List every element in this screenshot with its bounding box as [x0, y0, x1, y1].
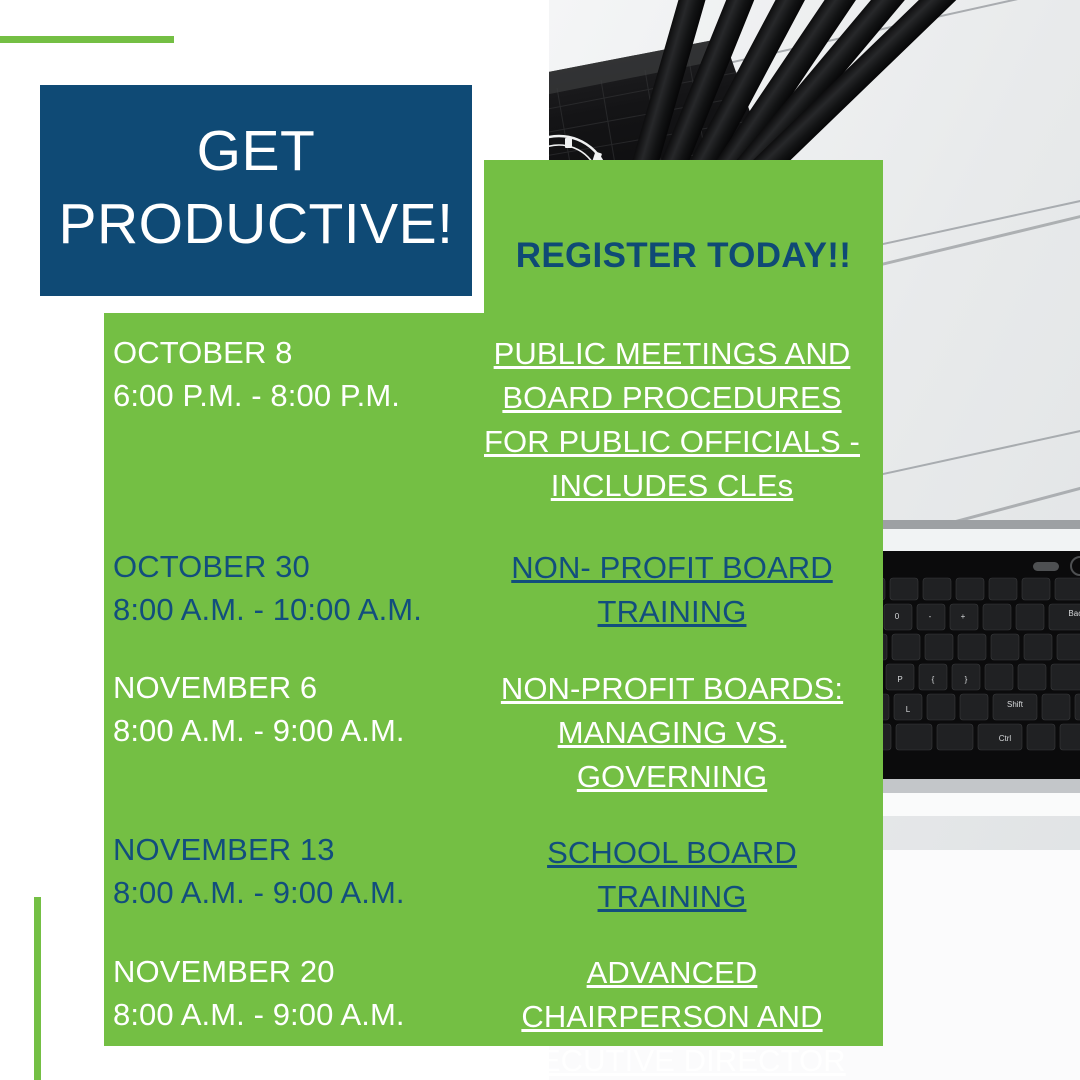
- schedule-date: OCTOBER 30: [113, 546, 470, 589]
- svg-text:Ctrl: Ctrl: [999, 734, 1012, 743]
- schedule-date: NOVEMBER 13: [113, 829, 470, 872]
- schedule-time: 8:00 A.M. - 10:00 A.M.: [113, 589, 470, 632]
- schedule-date: OCTOBER 8: [113, 332, 470, 375]
- event-link[interactable]: NON-PROFIT BOARDS: MANAGING VS. GOVERNIN…: [501, 671, 843, 794]
- schedule-time: 8:00 A.M. - 9:00 A.M.: [113, 872, 470, 915]
- svg-text:}: }: [965, 675, 968, 684]
- schedule-row: OCTOBER 30 8:00 A.M. - 10:00 A.M. NON- P…: [104, 546, 883, 634]
- schedule-row: OCTOBER 8 6:00 P.M. - 8:00 P.M. PUBLIC M…: [104, 332, 883, 508]
- schedule-time: 8:00 A.M. - 9:00 A.M.: [113, 994, 470, 1037]
- svg-text:{: {: [932, 675, 935, 684]
- accent-line-top: [0, 36, 174, 43]
- schedule-what[interactable]: PUBLIC MEETINGS AND BOARD PROCEDURES FOR…: [470, 332, 874, 508]
- schedule-time: 6:00 P.M. - 8:00 P.M.: [113, 375, 470, 418]
- schedule-when: NOVEMBER 6 8:00 A.M. - 9:00 A.M.: [104, 667, 470, 753]
- svg-text:+: +: [961, 612, 966, 621]
- schedule-list: OCTOBER 8 6:00 P.M. - 8:00 P.M. PUBLIC M…: [104, 332, 883, 1080]
- headline-box: GET PRODUCTIVE!: [40, 85, 472, 296]
- svg-text:P: P: [897, 675, 902, 684]
- schedule-what[interactable]: ADVANCED CHAIRPERSON AND EXECUTIVE DIREC…: [470, 951, 874, 1080]
- schedule-row: NOVEMBER 20 8:00 A.M. - 9:00 A.M. ADVANC…: [104, 951, 883, 1080]
- accent-line-left: [34, 897, 41, 1080]
- schedule-when: OCTOBER 30 8:00 A.M. - 10:00 A.M.: [104, 546, 470, 632]
- svg-text:L: L: [906, 705, 911, 714]
- event-link[interactable]: NON- PROFIT BOARD TRAINING: [511, 550, 832, 629]
- schedule-when: OCTOBER 8 6:00 P.M. - 8:00 P.M.: [104, 332, 470, 418]
- poster-canvas: 0: [0, 0, 1080, 1080]
- schedule-when: NOVEMBER 13 8:00 A.M. - 9:00 A.M.: [104, 829, 470, 915]
- schedule-row: NOVEMBER 13 8:00 A.M. - 9:00 A.M. SCHOOL…: [104, 829, 883, 919]
- page-title: GET PRODUCTIVE!: [58, 115, 453, 267]
- register-today-heading: REGISTER TODAY!!: [484, 236, 883, 276]
- svg-text:Backspace: Backspace: [1068, 609, 1080, 618]
- schedule-what[interactable]: NON- PROFIT BOARD TRAINING: [470, 546, 874, 634]
- event-link[interactable]: PUBLIC MEETINGS AND BOARD PROCEDURES FOR…: [484, 336, 860, 503]
- event-link[interactable]: SCHOOL BOARD TRAINING: [547, 835, 797, 914]
- schedule-when: NOVEMBER 20 8:00 A.M. - 9:00 A.M.: [104, 951, 470, 1037]
- schedule-what[interactable]: SCHOOL BOARD TRAINING: [470, 829, 874, 919]
- schedule-date: NOVEMBER 20: [113, 951, 470, 994]
- schedule-what[interactable]: NON-PROFIT BOARDS: MANAGING VS. GOVERNIN…: [470, 667, 874, 799]
- svg-text:Shift: Shift: [1007, 700, 1024, 709]
- svg-text:0: 0: [895, 612, 900, 621]
- schedule-row: NOVEMBER 6 8:00 A.M. - 9:00 A.M. NON-PRO…: [104, 667, 883, 799]
- svg-text:-: -: [929, 612, 932, 621]
- schedule-date: NOVEMBER 6: [113, 667, 470, 710]
- schedule-time: 8:00 A.M. - 9:00 A.M.: [113, 710, 470, 753]
- event-link[interactable]: ADVANCED CHAIRPERSON AND EXECUTIVE DIREC…: [498, 955, 845, 1080]
